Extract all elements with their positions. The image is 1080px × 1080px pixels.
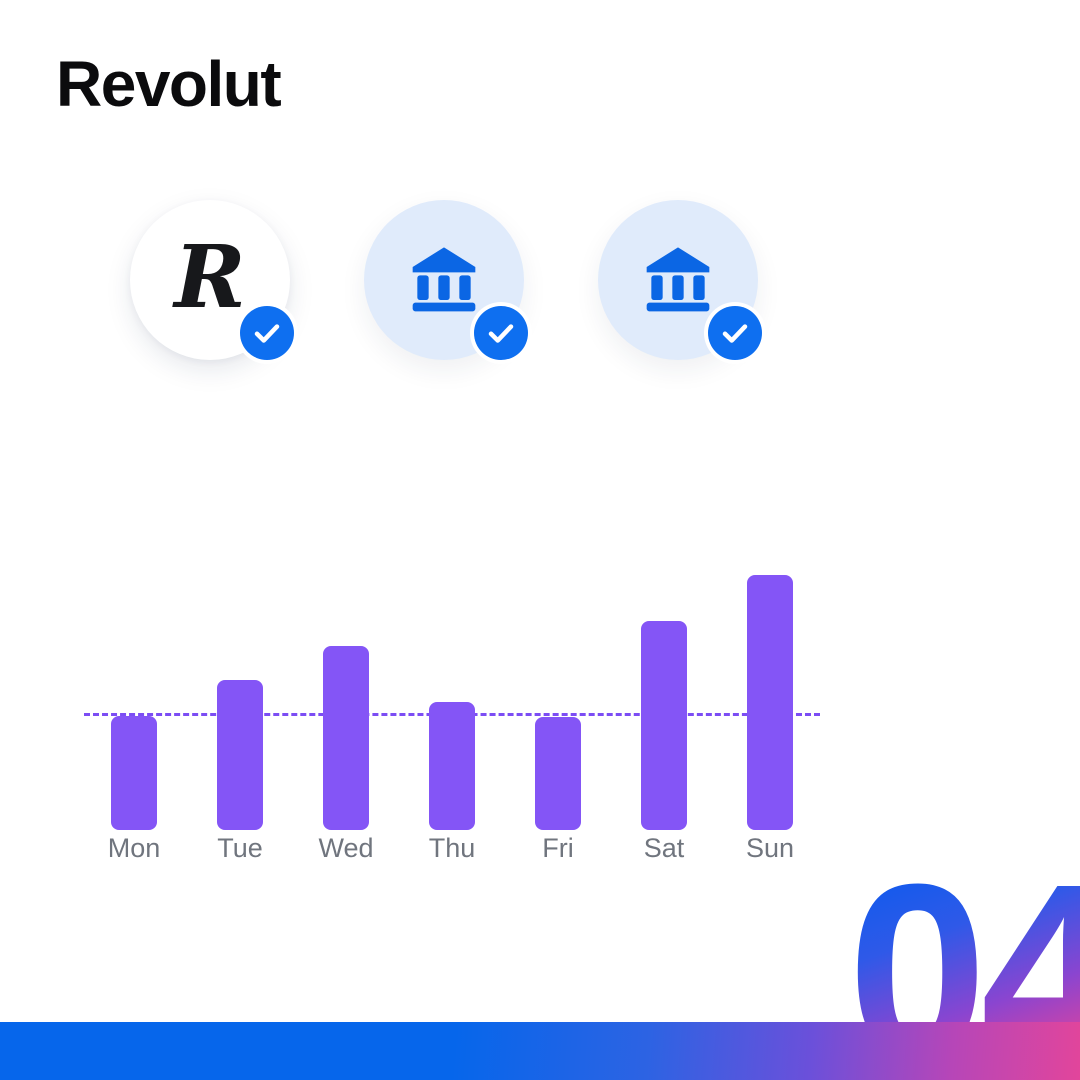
bar-tue[interactable] bbox=[217, 680, 263, 830]
x-tick-tue: Tue bbox=[190, 835, 290, 862]
bank-icon bbox=[638, 240, 718, 320]
verified-badge bbox=[470, 302, 532, 364]
bottom-gradient-bar bbox=[0, 1022, 1080, 1080]
linked-accounts-row: R bbox=[130, 200, 830, 400]
x-tick-wed: Wed bbox=[296, 835, 396, 862]
chart-x-axis: MonTueWedThuFriSatSun bbox=[80, 835, 840, 879]
account-item-revolut[interactable]: R bbox=[130, 200, 290, 360]
check-icon bbox=[240, 306, 294, 360]
x-tick-fri: Fri bbox=[508, 835, 608, 862]
bank-icon bbox=[404, 240, 484, 320]
chart-plot-area bbox=[80, 545, 840, 830]
bar-wed[interactable] bbox=[323, 646, 369, 830]
bar-mon[interactable] bbox=[111, 716, 157, 830]
slide-canvas: Revolut R bbox=[0, 0, 1080, 1080]
bar-thu[interactable] bbox=[429, 702, 475, 830]
x-tick-thu: Thu bbox=[402, 835, 502, 862]
account-item-bank-1[interactable] bbox=[364, 200, 524, 360]
x-tick-sat: Sat bbox=[614, 835, 714, 862]
revolut-wordmark: Revolut bbox=[56, 52, 280, 116]
check-icon bbox=[474, 306, 528, 360]
weekly-spending-chart: MonTueWedThuFriSatSun bbox=[80, 545, 840, 885]
check-icon bbox=[708, 306, 762, 360]
x-tick-mon: Mon bbox=[84, 835, 184, 862]
verified-badge bbox=[236, 302, 298, 364]
bar-sat[interactable] bbox=[641, 621, 687, 830]
x-tick-sun: Sun bbox=[720, 835, 820, 862]
revolut-r-icon: R bbox=[174, 235, 245, 321]
bar-sun[interactable] bbox=[747, 575, 793, 830]
account-item-bank-2[interactable] bbox=[598, 200, 758, 360]
bar-fri[interactable] bbox=[535, 717, 581, 830]
verified-badge bbox=[704, 302, 766, 364]
